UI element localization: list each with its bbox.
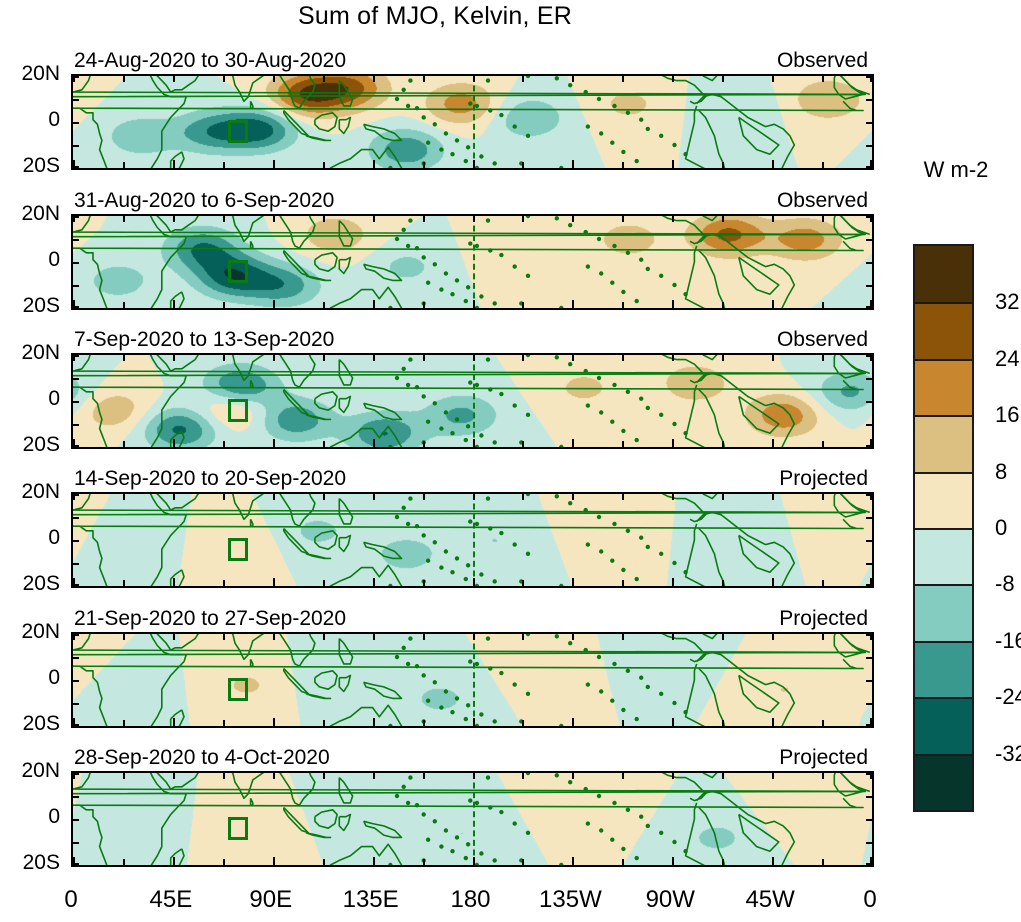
y-tick-mark-right <box>866 680 873 682</box>
x-tick-mark <box>672 578 674 587</box>
x-tick-mark <box>722 859 724 866</box>
x-tick-mark <box>123 441 125 448</box>
x-tick-mark <box>822 859 824 866</box>
x-tick-mark-top <box>423 75 425 82</box>
x-tick-mark <box>373 160 375 169</box>
x-tick-mark <box>373 300 375 309</box>
colorbar-band <box>915 697 972 753</box>
y-tick-label: 20N <box>21 62 60 86</box>
y-tick-mark-right <box>866 773 873 775</box>
x-tick-mark-top <box>323 633 325 640</box>
map-panel <box>71 492 874 588</box>
x-tick-label: 45E <box>150 886 193 914</box>
x-tick-mark <box>123 720 125 727</box>
y-tick-mark <box>72 703 79 705</box>
x-tick-mark <box>323 302 325 309</box>
y-tick-mark-right <box>866 563 873 565</box>
x-tick-mark-top <box>722 354 724 361</box>
colorbar-separator <box>915 302 972 304</box>
meridian-180-line <box>473 634 475 726</box>
y-tick-mark-right <box>866 540 873 542</box>
x-tick-mark-top <box>822 215 824 222</box>
reference-region-box <box>228 399 248 422</box>
x-tick-mark <box>423 859 425 866</box>
y-tick-mark <box>72 378 79 380</box>
x-tick-mark-top <box>522 75 524 82</box>
colorbar-separator <box>915 584 972 586</box>
x-tick-mark <box>522 580 524 587</box>
y-tick-label: 0 <box>48 805 60 829</box>
x-tick-mark <box>123 580 125 587</box>
x-tick-mark-top <box>123 354 125 361</box>
y-tick-mark-right <box>866 166 873 168</box>
x-tick-mark-top <box>822 633 824 640</box>
x-tick-mark-top <box>273 633 275 640</box>
map-panel <box>71 771 874 867</box>
panel-header: 14-Sep-2020 to 20-Sep-2020Projected <box>71 465 870 491</box>
y-tick-mark <box>72 145 79 147</box>
colorbar-tick-label: -24 <box>995 684 1021 710</box>
x-tick-mark-top <box>373 772 375 779</box>
y-tick-mark-right <box>866 401 873 403</box>
x-tick-mark-top <box>522 493 524 500</box>
y-tick-mark <box>72 99 79 101</box>
x-tick-mark <box>223 580 225 587</box>
map-field <box>73 216 872 308</box>
x-tick-mark-top <box>473 215 475 222</box>
x-tick-mark-top <box>273 493 275 500</box>
x-tick-mark <box>772 439 774 448</box>
y-tick-mark <box>72 842 79 844</box>
figure-root: Sum of MJO, Kelvin, ER 24-Aug-2020 to 30… <box>0 0 1021 922</box>
x-tick-mark <box>473 578 475 587</box>
x-tick-mark <box>423 720 425 727</box>
colorbar-tick-label: -32 <box>995 741 1021 767</box>
x-tick-mark <box>273 718 275 727</box>
x-tick-mark-top <box>622 75 624 82</box>
colorbar-tick-label: 16 <box>995 402 1019 428</box>
y-tick-mark <box>72 517 79 519</box>
x-tick-mark <box>323 720 325 727</box>
x-tick-mark-top <box>273 772 275 779</box>
y-tick-mark-right <box>866 445 873 447</box>
x-tick-mark-top <box>273 354 275 361</box>
x-tick-mark-top <box>622 633 624 640</box>
y-tick-mark <box>72 540 79 542</box>
y-axis-tick-labels: 20N020S <box>0 632 66 724</box>
map-panel <box>71 74 874 170</box>
x-tick-mark-top <box>672 633 674 640</box>
reference-region-box <box>228 538 248 561</box>
y-tick-label: 20N <box>21 620 60 644</box>
figure-title: Sum of MJO, Kelvin, ER <box>0 2 870 31</box>
panel-header: 31-Aug-2020 to 6-Sep-2020Observed <box>71 187 870 213</box>
x-tick-mark <box>672 300 674 309</box>
colorbar-tick-label: 32 <box>995 289 1019 315</box>
y-tick-label: 20S <box>23 712 60 736</box>
x-tick-mark <box>273 300 275 309</box>
y-tick-mark-right <box>866 76 873 78</box>
x-tick-mark <box>722 580 724 587</box>
y-tick-mark <box>72 863 79 865</box>
x-tick-mark <box>522 302 524 309</box>
y-tick-mark-right <box>866 657 873 659</box>
y-tick-mark <box>72 166 79 168</box>
panel-header: 24-Aug-2020 to 30-Aug-2020Observed <box>71 47 870 73</box>
x-tick-mark-top <box>473 354 475 361</box>
y-tick-mark-right <box>866 262 873 264</box>
y-tick-mark-right <box>866 494 873 496</box>
map-field <box>73 76 872 168</box>
x-tick-mark-top <box>572 633 574 640</box>
x-tick-mark <box>572 300 574 309</box>
x-tick-mark <box>522 720 524 727</box>
x-tick-mark-top <box>772 493 774 500</box>
x-tick-mark <box>473 718 475 727</box>
x-tick-mark-top <box>522 215 524 222</box>
x-tick-mark <box>672 857 674 866</box>
x-tick-mark <box>373 578 375 587</box>
colorbar-band <box>915 415 972 471</box>
x-tick-mark-top <box>822 75 824 82</box>
x-tick-mark-top <box>672 354 674 361</box>
x-tick-mark-top <box>572 354 574 361</box>
x-tick-mark <box>473 300 475 309</box>
x-tick-mark <box>323 441 325 448</box>
x-tick-mark-top <box>173 354 175 361</box>
panel-status-label: Observed <box>777 189 868 213</box>
panel-6: 28-Sep-2020 to 4-Oct-2020Projected20N020… <box>71 771 870 863</box>
x-tick-mark-top <box>522 354 524 361</box>
meridian-180-line <box>473 216 475 308</box>
x-tick-mark-top <box>722 493 724 500</box>
x-tick-mark <box>223 859 225 866</box>
x-tick-mark <box>822 162 824 169</box>
x-tick-label: 45W <box>745 886 794 914</box>
x-tick-mark <box>173 718 175 727</box>
panel-4: 14-Sep-2020 to 20-Sep-2020Projected20N02… <box>71 492 870 584</box>
map-field <box>73 773 872 865</box>
x-tick-mark-top <box>223 493 225 500</box>
x-tick-mark-top <box>373 75 375 82</box>
y-tick-mark <box>72 563 79 565</box>
y-tick-mark <box>72 401 79 403</box>
x-tick-mark <box>473 857 475 866</box>
y-tick-mark-right <box>866 724 873 726</box>
y-tick-mark-right <box>866 796 873 798</box>
x-tick-mark-top <box>173 772 175 779</box>
y-tick-mark-right <box>866 145 873 147</box>
panel-1: 24-Aug-2020 to 30-Aug-2020Observed20N020… <box>71 74 870 166</box>
y-tick-mark <box>72 445 79 447</box>
x-tick-mark-top <box>423 215 425 222</box>
y-tick-mark-right <box>866 285 873 287</box>
x-axis-tick-labels: 045E90E135E180135W90W45W0 <box>71 886 870 916</box>
y-tick-label: 20S <box>23 572 60 596</box>
x-tick-mark <box>572 578 574 587</box>
x-tick-mark <box>822 580 824 587</box>
y-tick-mark-right <box>866 122 873 124</box>
colorbar-separator <box>915 528 972 530</box>
x-tick-mark-top <box>323 215 325 222</box>
panel-date-range: 7-Sep-2020 to 13-Sep-2020 <box>74 328 334 352</box>
x-tick-mark-top <box>722 633 724 640</box>
reference-region-box <box>228 120 248 143</box>
colorbar-band <box>915 754 972 810</box>
colorbar-band <box>915 472 972 528</box>
x-tick-label: 135E <box>343 886 399 914</box>
y-tick-mark <box>72 796 79 798</box>
colorbar-tick-label: -8 <box>995 571 1015 597</box>
y-tick-label: 20S <box>23 851 60 875</box>
x-tick-mark <box>123 302 125 309</box>
x-tick-mark-top <box>772 772 774 779</box>
x-tick-mark-top <box>173 493 175 500</box>
y-axis-tick-labels: 20N020S <box>0 492 66 584</box>
colorbar-separator <box>915 472 972 474</box>
x-tick-mark <box>722 441 724 448</box>
x-tick-mark-top <box>123 633 125 640</box>
colorbar-band <box>915 246 972 302</box>
x-tick-mark-top <box>123 215 125 222</box>
y-tick-mark-right <box>866 819 873 821</box>
colorbar-tick-label: 24 <box>995 346 1019 372</box>
y-tick-label: 20N <box>21 202 60 226</box>
y-tick-mark <box>72 424 79 426</box>
x-tick-mark <box>622 580 624 587</box>
x-tick-mark <box>373 857 375 866</box>
x-tick-mark <box>323 162 325 169</box>
x-tick-mark-top <box>323 354 325 361</box>
x-tick-mark <box>473 160 475 169</box>
x-tick-mark-top <box>373 354 375 361</box>
panel-date-range: 21-Sep-2020 to 27-Sep-2020 <box>74 607 346 631</box>
colorbar-band <box>915 641 972 697</box>
y-tick-mark <box>72 634 79 636</box>
x-tick-mark-top <box>223 75 225 82</box>
x-tick-mark-top <box>423 354 425 361</box>
x-tick-mark-top <box>273 215 275 222</box>
y-tick-mark-right <box>866 216 873 218</box>
colorbar <box>913 244 974 812</box>
x-tick-mark-top <box>672 215 674 222</box>
y-tick-mark-right <box>866 99 873 101</box>
x-tick-mark <box>622 441 624 448</box>
y-tick-mark <box>72 216 79 218</box>
x-tick-mark-top <box>572 493 574 500</box>
panel-5: 21-Sep-2020 to 27-Sep-2020Projected20N02… <box>71 632 870 724</box>
x-tick-label: 90W <box>646 886 695 914</box>
y-tick-mark-right <box>866 584 873 586</box>
x-tick-mark-top <box>672 75 674 82</box>
meridian-180-line <box>473 494 475 586</box>
y-tick-label: 0 <box>48 526 60 550</box>
y-axis-tick-labels: 20N020S <box>0 74 66 166</box>
y-tick-label: 0 <box>48 108 60 132</box>
x-tick-label: 135W <box>539 886 602 914</box>
x-tick-mark-top <box>473 633 475 640</box>
x-tick-mark-top <box>572 75 574 82</box>
x-tick-mark-top <box>822 493 824 500</box>
x-tick-mark <box>423 441 425 448</box>
y-axis-tick-labels: 20N020S <box>0 353 66 445</box>
x-tick-mark <box>223 302 225 309</box>
reference-region-box <box>228 678 248 701</box>
x-tick-mark-top <box>822 772 824 779</box>
x-tick-mark <box>672 718 674 727</box>
panel-3: 7-Sep-2020 to 13-Sep-2020Observed20N020S <box>71 353 870 445</box>
map-field <box>73 494 872 586</box>
x-tick-mark <box>722 720 724 727</box>
x-tick-mark-top <box>173 215 175 222</box>
x-tick-mark-top <box>473 75 475 82</box>
y-tick-label: 0 <box>48 248 60 272</box>
x-tick-mark-top <box>622 215 624 222</box>
y-tick-mark <box>72 262 79 264</box>
x-tick-mark <box>572 160 574 169</box>
panel-status-label: Projected <box>779 467 868 491</box>
x-tick-mark-top <box>622 354 624 361</box>
x-tick-mark <box>423 580 425 587</box>
x-tick-mark <box>522 859 524 866</box>
x-tick-mark <box>323 580 325 587</box>
x-tick-mark <box>173 439 175 448</box>
x-tick-mark-top <box>772 215 774 222</box>
x-tick-mark-top <box>822 354 824 361</box>
colorbar-separator <box>915 359 972 361</box>
x-tick-mark <box>772 160 774 169</box>
x-tick-mark <box>772 300 774 309</box>
x-tick-mark-top <box>473 772 475 779</box>
x-tick-mark <box>622 720 624 727</box>
colorbar-tick-label: -16 <box>995 628 1021 654</box>
y-tick-mark <box>72 773 79 775</box>
y-tick-label: 0 <box>48 666 60 690</box>
colorbar-separator <box>915 641 972 643</box>
y-tick-mark <box>72 355 79 357</box>
x-tick-mark <box>173 300 175 309</box>
y-tick-mark-right <box>866 355 873 357</box>
y-tick-label: 20N <box>21 480 60 504</box>
colorbar-band <box>915 528 972 584</box>
panel-header: 21-Sep-2020 to 27-Sep-2020Projected <box>71 605 870 631</box>
x-tick-mark-top <box>722 75 724 82</box>
y-tick-label: 0 <box>48 387 60 411</box>
y-tick-mark-right <box>866 842 873 844</box>
x-tick-mark <box>772 578 774 587</box>
x-tick-mark <box>173 578 175 587</box>
x-tick-mark-top <box>772 633 774 640</box>
x-tick-mark-top <box>772 354 774 361</box>
x-tick-mark-top <box>622 493 624 500</box>
x-tick-mark-top <box>223 633 225 640</box>
x-tick-mark-top <box>123 493 125 500</box>
y-axis-tick-labels: 20N020S <box>0 771 66 863</box>
x-tick-mark-top <box>473 493 475 500</box>
map-field <box>73 634 872 726</box>
x-tick-mark <box>622 162 624 169</box>
x-tick-mark-top <box>572 772 574 779</box>
reference-region-box <box>228 817 248 840</box>
map-field <box>73 355 872 447</box>
x-tick-mark-top <box>722 772 724 779</box>
meridian-180-line <box>473 76 475 168</box>
y-tick-mark <box>72 76 79 78</box>
x-tick-mark <box>423 162 425 169</box>
y-tick-mark-right <box>866 424 873 426</box>
x-tick-mark-top <box>273 75 275 82</box>
x-tick-label: 90E <box>249 886 292 914</box>
x-tick-mark <box>123 162 125 169</box>
x-tick-label: 0 <box>863 886 876 914</box>
x-tick-label: 180 <box>450 886 490 914</box>
y-tick-mark <box>72 285 79 287</box>
y-tick-mark-right <box>866 703 873 705</box>
x-tick-mark-top <box>223 772 225 779</box>
x-tick-mark <box>822 720 824 727</box>
x-tick-mark-top <box>373 215 375 222</box>
panel-date-range: 24-Aug-2020 to 30-Aug-2020 <box>74 49 346 73</box>
y-tick-mark <box>72 680 79 682</box>
colorbar-band <box>915 584 972 640</box>
colorbar-band <box>915 302 972 358</box>
panel-date-range: 28-Sep-2020 to 4-Oct-2020 <box>74 746 330 770</box>
x-tick-mark <box>522 441 524 448</box>
colorbar-tick-label: 8 <box>995 459 1007 485</box>
panel-status-label: Observed <box>777 49 868 73</box>
x-tick-mark-top <box>672 493 674 500</box>
y-tick-mark <box>72 306 79 308</box>
panel-date-range: 31-Aug-2020 to 6-Sep-2020 <box>74 189 334 213</box>
x-tick-mark-top <box>423 633 425 640</box>
y-tick-mark-right <box>866 239 873 241</box>
x-tick-mark <box>173 160 175 169</box>
x-tick-mark-top <box>323 75 325 82</box>
x-tick-mark-top <box>522 633 524 640</box>
x-tick-mark <box>722 162 724 169</box>
x-tick-mark <box>273 857 275 866</box>
x-tick-mark <box>273 439 275 448</box>
x-tick-mark <box>572 439 574 448</box>
x-tick-mark-top <box>423 493 425 500</box>
panel-status-label: Observed <box>777 328 868 352</box>
meridian-180-line <box>473 773 475 865</box>
x-tick-mark <box>223 162 225 169</box>
x-tick-mark-top <box>323 772 325 779</box>
y-tick-mark-right <box>866 634 873 636</box>
x-tick-mark <box>522 162 524 169</box>
map-panel <box>71 214 874 310</box>
y-tick-mark-right <box>866 306 873 308</box>
x-tick-mark <box>722 302 724 309</box>
x-tick-mark <box>622 302 624 309</box>
y-tick-mark <box>72 122 79 124</box>
map-panel <box>71 632 874 728</box>
x-tick-mark-top <box>722 215 724 222</box>
x-tick-mark-top <box>373 633 375 640</box>
x-tick-mark <box>572 718 574 727</box>
y-tick-label: 20N <box>21 341 60 365</box>
y-tick-mark <box>72 239 79 241</box>
x-tick-mark <box>223 441 225 448</box>
x-tick-mark <box>323 859 325 866</box>
y-tick-mark-right <box>866 517 873 519</box>
x-tick-mark-top <box>323 493 325 500</box>
x-tick-mark-top <box>622 772 624 779</box>
x-tick-mark-top <box>223 215 225 222</box>
y-tick-mark-right <box>866 863 873 865</box>
x-tick-mark <box>672 160 674 169</box>
